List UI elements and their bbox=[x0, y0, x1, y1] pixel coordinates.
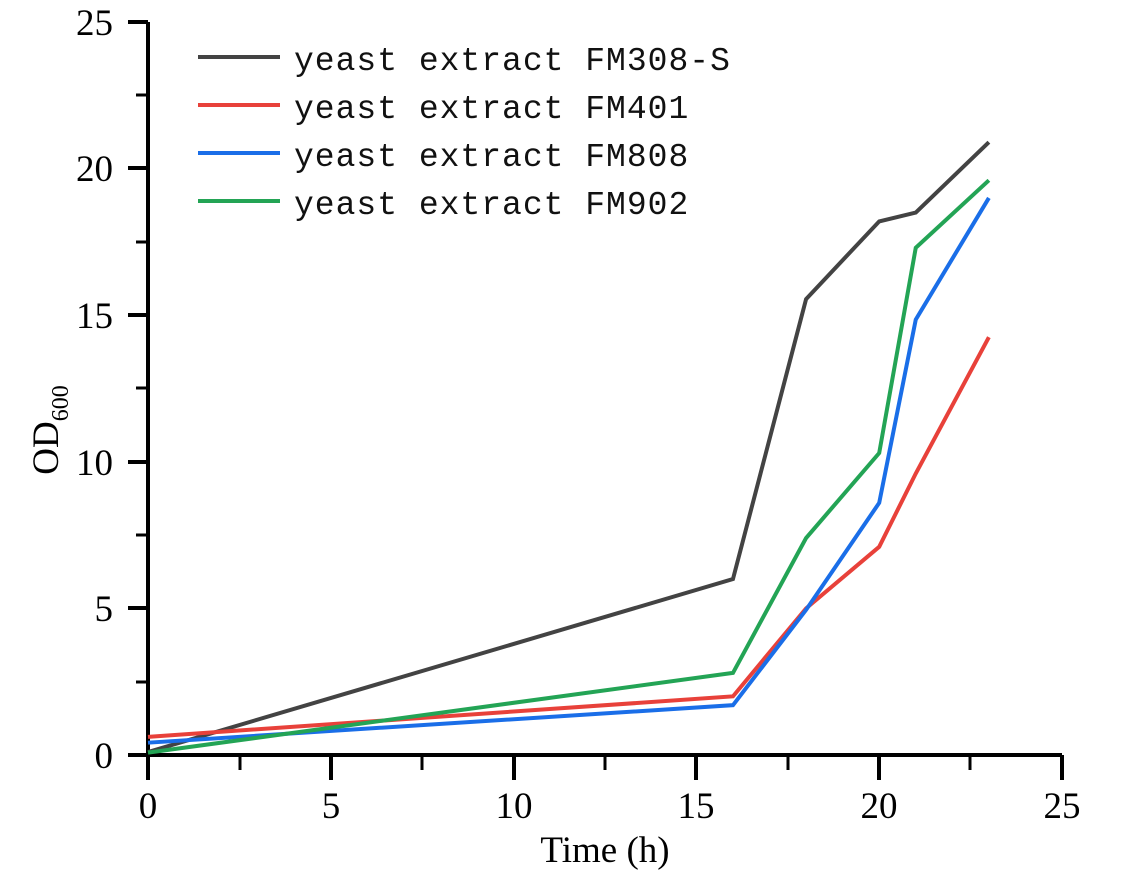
y-tick-label: 0 bbox=[95, 736, 114, 777]
series-line-fm902 bbox=[148, 180, 989, 752]
svg-text:OD600: OD600 bbox=[26, 385, 74, 474]
y-tick-label: 5 bbox=[95, 589, 114, 630]
legend-label: yeast extract FM401 bbox=[294, 91, 689, 128]
legend-item: yeast extract FM902 bbox=[198, 187, 689, 224]
x-tick-label: 10 bbox=[496, 786, 533, 827]
y-tick-label: 25 bbox=[76, 3, 113, 44]
x-tick-label: 5 bbox=[322, 786, 341, 827]
legend-label: yeast extract FM308-S bbox=[294, 43, 731, 80]
legend-label: yeast extract FM808 bbox=[294, 139, 689, 176]
x-tick-label: 15 bbox=[678, 786, 715, 827]
y-axis-title-subscript: 600 bbox=[48, 385, 74, 421]
legend-item: yeast extract FM808 bbox=[198, 139, 689, 176]
series-line-fm308s bbox=[148, 142, 989, 752]
legend-label: yeast extract FM902 bbox=[294, 187, 689, 224]
x-axis-title: Time (h) bbox=[540, 830, 669, 871]
axis-lines bbox=[148, 22, 1062, 755]
chart-legend: yeast extract FM308-S yeast extract FM40… bbox=[198, 43, 731, 224]
line-chart-svg: 25 20 15 10 5 0 0 5 10 15 20 25 Time (h)… bbox=[0, 0, 1124, 876]
y-axis-title: OD600 bbox=[26, 385, 74, 474]
y-tick-label: 20 bbox=[76, 149, 113, 190]
y-axis-title-base: OD bbox=[26, 421, 67, 474]
x-axis-minor-ticks bbox=[240, 755, 970, 770]
x-tick-label: 20 bbox=[861, 786, 898, 827]
chart-figure: 25 20 15 10 5 0 0 5 10 15 20 25 Time (h)… bbox=[0, 0, 1124, 876]
legend-item: yeast extract FM308-S bbox=[198, 43, 731, 80]
data-series-layer bbox=[148, 142, 989, 752]
legend-item: yeast extract FM401 bbox=[198, 91, 689, 128]
y-tick-label: 10 bbox=[76, 443, 113, 484]
y-tick-label: 15 bbox=[76, 296, 113, 337]
x-tick-label: 25 bbox=[1044, 786, 1081, 827]
series-line-fm401 bbox=[148, 337, 989, 737]
x-axis-tick-labels: 0 5 10 15 20 25 bbox=[139, 786, 1081, 827]
x-tick-label: 0 bbox=[139, 786, 158, 827]
y-axis-tick-labels: 25 20 15 10 5 0 bbox=[76, 3, 113, 777]
